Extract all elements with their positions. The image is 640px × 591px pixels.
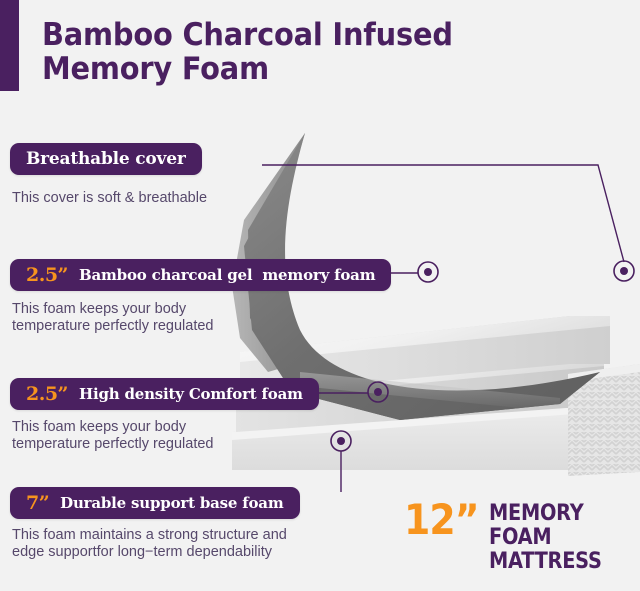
marker-cover [614, 261, 634, 281]
layer-badge-label-gel: Bamboo charcoal gel memory foam [79, 267, 375, 283]
title-accent-bar [0, 0, 19, 91]
layer-description-support-base: This foam maintains a strong structure a… [12, 527, 287, 561]
layer-badge-gel[interactable]: 2.5” Bamboo charcoal gel memory foam [10, 259, 391, 291]
layer-badge-cover[interactable]: Breathable cover [10, 143, 202, 175]
layer-badge-label-support-base: Durable support base foam [60, 495, 283, 511]
footer-product-label: MEMORY FOAM MATTRESS [489, 502, 622, 574]
layer-description-comfort: This foam keeps your body temperature pe… [12, 419, 214, 453]
layer-badge-support-base[interactable]: 7” Durable support base foam [10, 487, 300, 519]
layer-thickness-gel: 2.5” [26, 266, 68, 285]
layer-description-gel: This foam keeps your body temperature pe… [12, 301, 214, 335]
product-infographic: Bamboo Charcoal Infused Memory Foam Brea… [0, 0, 640, 591]
footer-spec: 12” MEMORY FOAM MATTRESS [404, 500, 640, 574]
footer-total-thickness: 12” [404, 500, 479, 540]
connector-line-cover [262, 165, 624, 262]
marker-gel [418, 262, 438, 282]
layer-thickness-comfort: 2.5” [26, 385, 68, 404]
layer-description-cover: This cover is soft & breathable [12, 190, 207, 207]
layer-badge-label-comfort: High density Comfort foam [79, 386, 303, 402]
layer-badge-comfort[interactable]: 2.5” High density Comfort foam [10, 378, 319, 410]
layer-badge-label-cover: Breathable cover [26, 151, 186, 167]
layer-thickness-support-base: 7” [26, 494, 49, 513]
page-title: Bamboo Charcoal Infused Memory Foam [42, 18, 479, 86]
